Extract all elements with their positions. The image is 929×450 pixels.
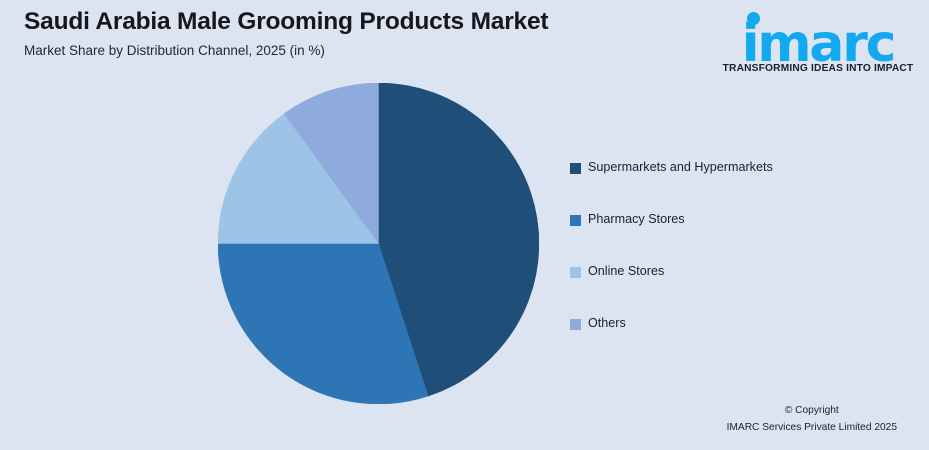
pie-chart-svg — [218, 83, 539, 404]
legend-item-supermarkets-and-hypermarkets[interactable]: Supermarkets and Hypermarkets — [570, 160, 900, 212]
pie-slice-group — [218, 83, 539, 404]
legend-item-online-stores[interactable]: Online Stores — [570, 264, 900, 316]
legend-item-pharmacy-stores[interactable]: Pharmacy Stores — [570, 212, 900, 264]
legend-item-label: Pharmacy Stores — [588, 212, 685, 227]
chart-legend: Supermarkets and Hypermarkets Pharmacy S… — [570, 160, 900, 368]
legend-item-label: Online Stores — [588, 264, 664, 279]
legend-swatch-icon — [570, 215, 581, 226]
legend-item-others[interactable]: Others — [570, 316, 900, 368]
page-title: Saudi Arabia Male Grooming Products Mark… — [24, 8, 674, 36]
chart-subtitle: Market Share by Distribution Channel, 20… — [24, 43, 674, 59]
logo-wordmark-text: imarc — [720, 18, 916, 70]
logo-wordmark: imarc — [720, 10, 916, 66]
pie-chart — [218, 83, 539, 404]
chart-infographic: Saudi Arabia Male Grooming Products Mark… — [0, 0, 929, 450]
legend-swatch-icon — [570, 267, 581, 278]
legend-item-label: Others — [588, 316, 626, 331]
copyright-footer: © Copyright IMARC Services Private Limit… — [727, 403, 897, 437]
copyright-line-2: IMARC Services Private Limited 2025 — [727, 420, 897, 437]
imarc-logo: imarc TRANSFORMING IDEAS INTO IMPACT — [720, 10, 916, 74]
header: Saudi Arabia Male Grooming Products Mark… — [24, 8, 674, 59]
legend-swatch-icon — [570, 319, 581, 330]
legend-item-label: Supermarkets and Hypermarkets — [588, 160, 773, 175]
legend-swatch-icon — [570, 163, 581, 174]
copyright-line-1: © Copyright — [727, 403, 897, 420]
